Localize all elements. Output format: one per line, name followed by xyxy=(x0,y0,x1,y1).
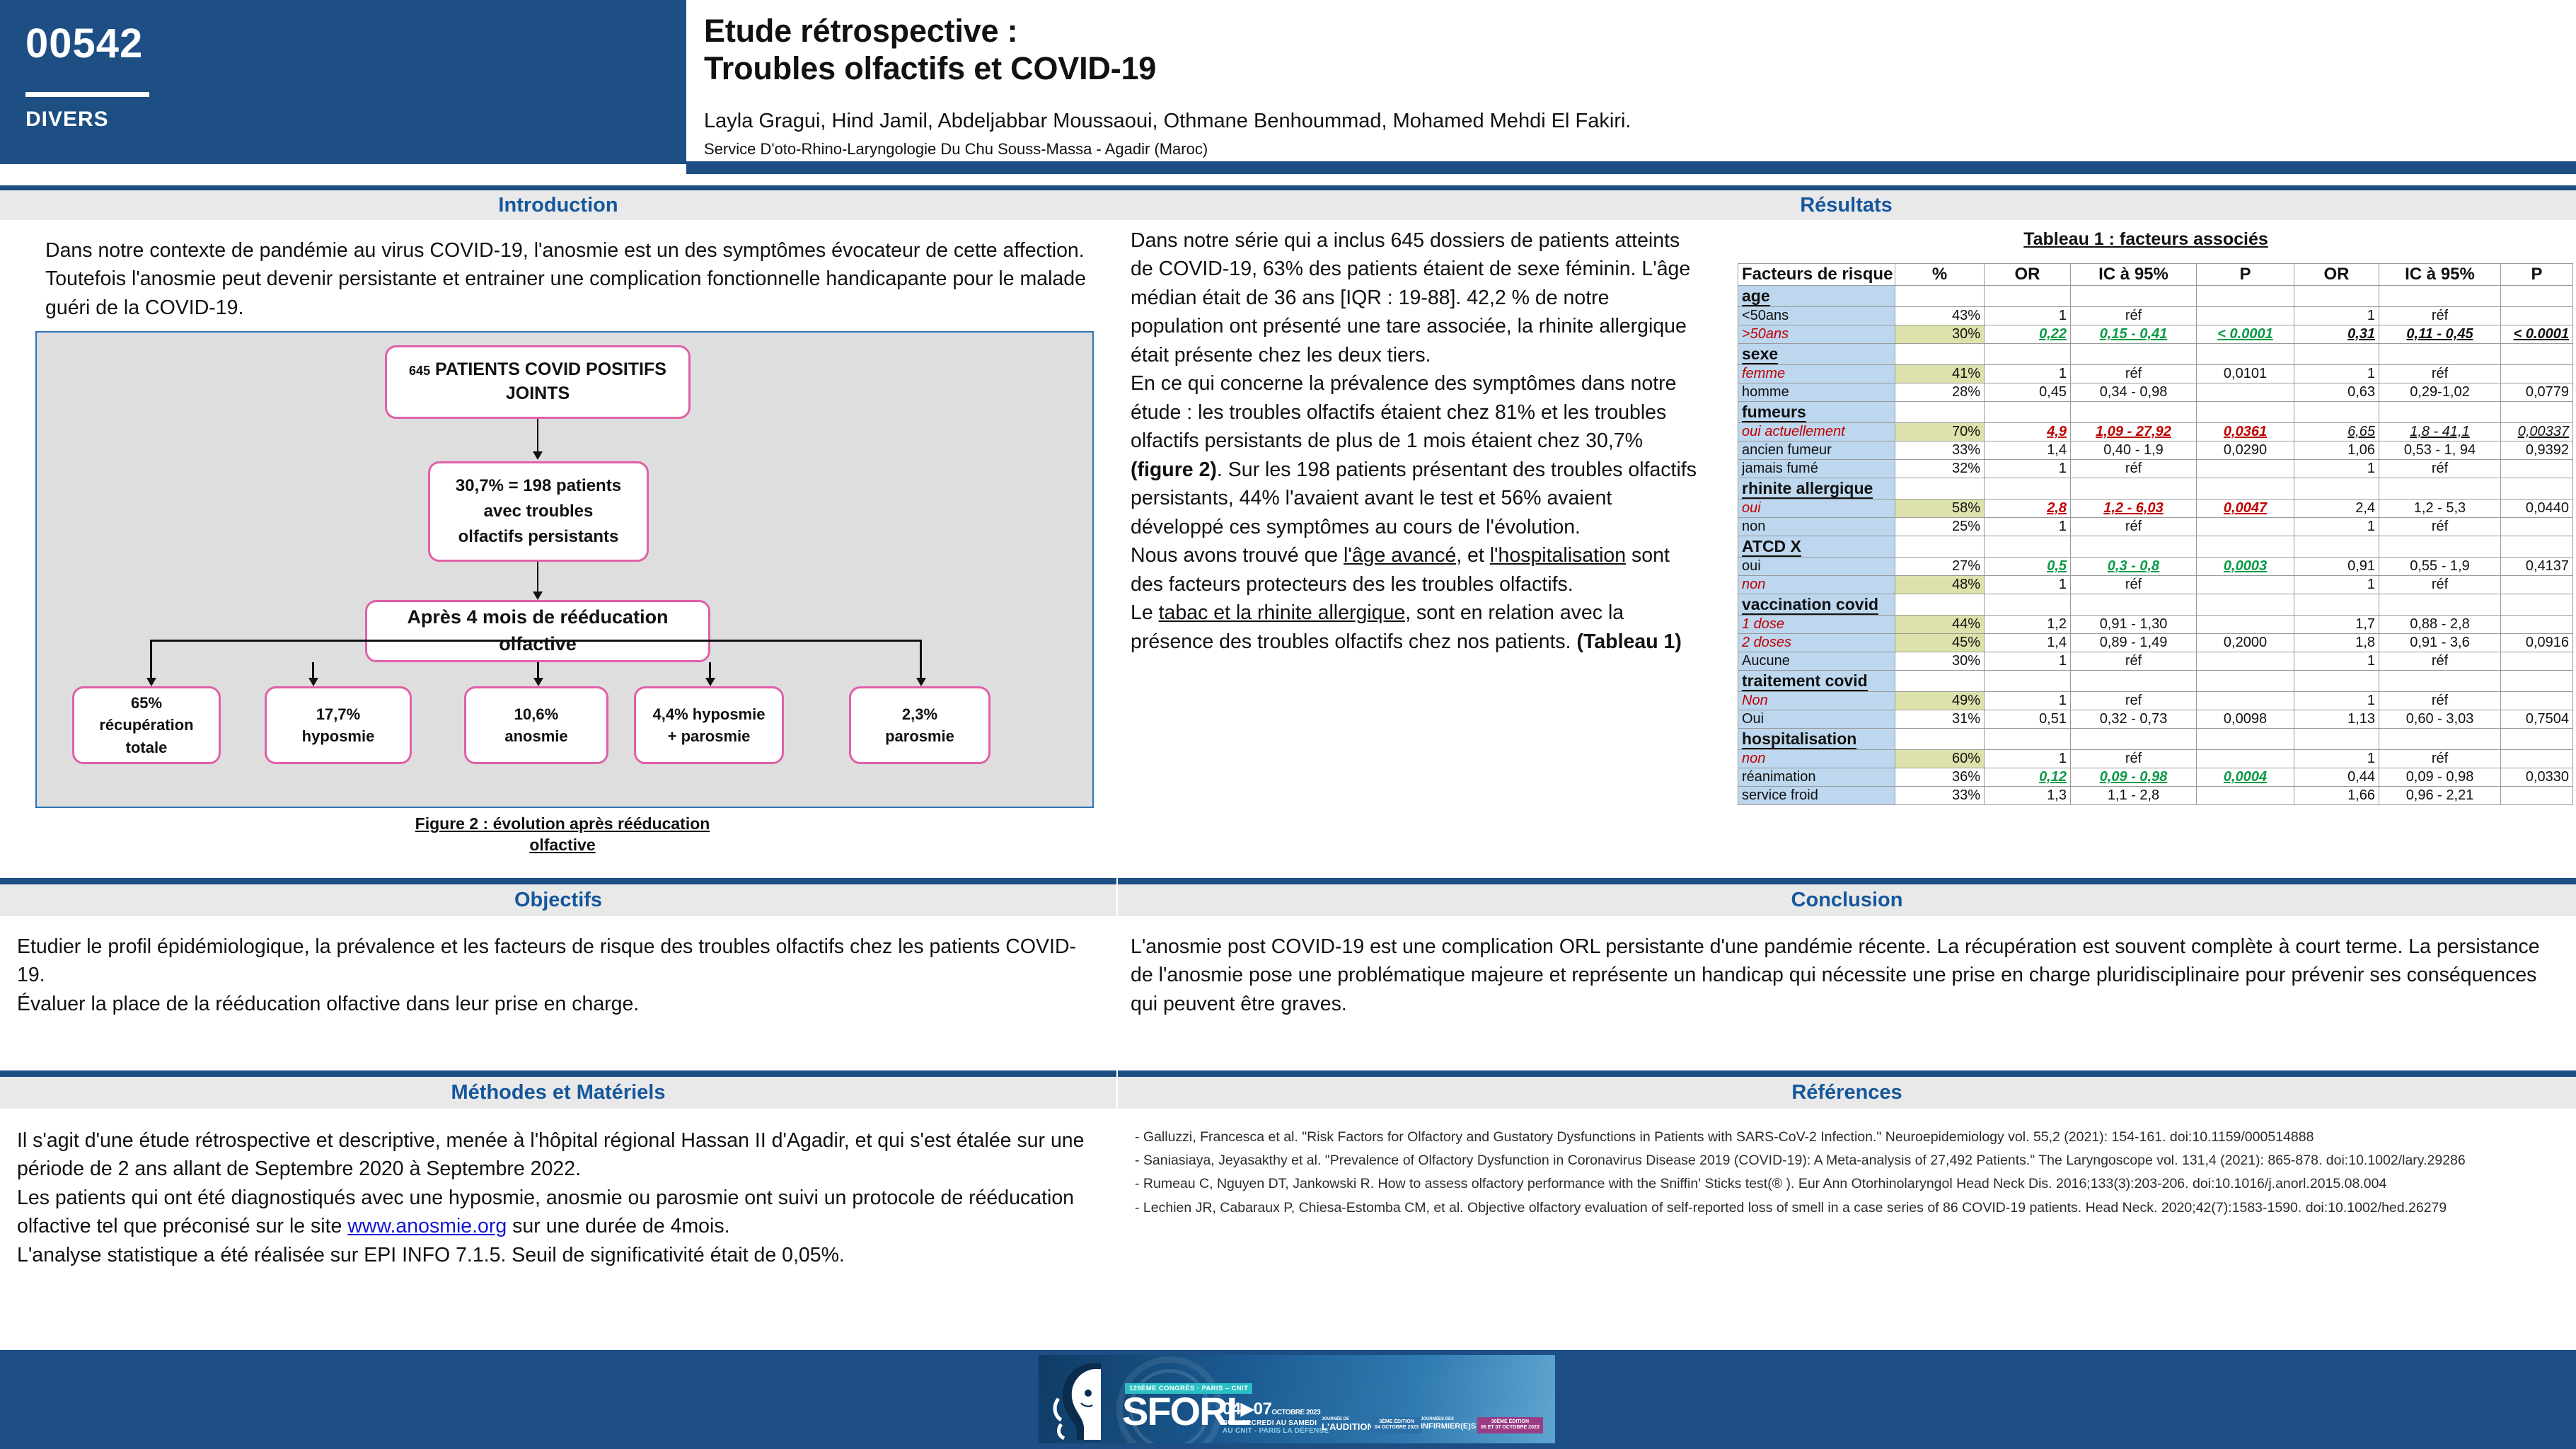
methodes-title: Méthodes et Matériels xyxy=(451,1081,666,1104)
resultats-p3-a: Nous avons trouvé que xyxy=(1131,544,1344,567)
table-cell-or-multi: 1,13 xyxy=(2294,710,2379,729)
table-cell-or-uni: 4,9 xyxy=(1985,423,2071,441)
table-cell xyxy=(2501,344,2573,365)
table-header-row: Facteurs de risque%ORIC à 95%PORIC à 95%… xyxy=(1738,264,2573,286)
table-cell-percent: 43% xyxy=(1895,307,1985,325)
flow-node-persistent: 30,7% = 198 patients avec troubles olfac… xyxy=(428,461,649,562)
table-group-row: vaccination covid xyxy=(1738,594,2573,616)
resultats-p4-tableref: (Tableau 1) xyxy=(1577,630,1682,653)
flow-outcome-1-l2: récupération xyxy=(99,714,193,736)
table-cell-ic-multi: réf xyxy=(2379,692,2501,710)
table-col-4: P xyxy=(2197,264,2294,286)
badge-divider xyxy=(25,92,149,97)
resultats-p4: Le tabac et la rhinite allergique, sont … xyxy=(1131,599,1702,656)
abstract-number: 00542 xyxy=(25,20,143,67)
table-cell-or-multi: 1,66 xyxy=(2294,787,2379,805)
table-cell-ic-uni: 1,1 - 2,8 xyxy=(2071,787,2197,805)
table-cell-percent: 70% xyxy=(1895,423,1985,441)
table-cell xyxy=(2379,344,2501,365)
table-cell-ic-uni: 0,34 - 0,98 xyxy=(2071,383,2197,402)
table-cell-ic-uni: 1,09 - 27,92 xyxy=(2071,423,2197,441)
table-cell-p-uni xyxy=(2197,787,2294,805)
table-cell-or-uni: 1 xyxy=(1985,518,2071,536)
table-group-label: ATCD X xyxy=(1738,536,1895,558)
table-cell xyxy=(2071,286,2197,307)
table-cell-ic-multi: 0,53 - 1, 94 xyxy=(2379,441,2501,460)
table-cell xyxy=(2071,402,2197,423)
table-row: non25%1réf1réf xyxy=(1738,518,2573,536)
table-row-label: service froid xyxy=(1738,787,1895,805)
flow-connector-1 xyxy=(537,419,538,454)
table-row: jamais fumé32%1réf1réf xyxy=(1738,460,2573,478)
table-cell-p-multi xyxy=(2501,365,2573,383)
table-cell-ic-multi: 0,88 - 2,8 xyxy=(2379,616,2501,634)
flow-outcome-1: 65% récupération totale xyxy=(72,686,221,764)
flow-outcome-1-l1: 65% xyxy=(131,692,162,714)
table-cell xyxy=(2197,594,2294,616)
table-cell xyxy=(2071,671,2197,692)
table-cell-p-multi: < 0.0001 xyxy=(2501,325,2573,344)
flow-arrow-o4 xyxy=(705,678,715,686)
table-cell-ic-uni: 0,91 - 1,30 xyxy=(2071,616,2197,634)
table-cell xyxy=(2197,729,2294,750)
table-cell-or-uni: 0,22 xyxy=(1985,325,2071,344)
table-group-label: traitement covid xyxy=(1738,671,1895,692)
table-cell-ic-multi: 0,91 - 3,6 xyxy=(2379,634,2501,652)
congress-dates: 04▶07OCTOBRE 2023 DU MERCREDI AU SAMEDI … xyxy=(1223,1399,1329,1435)
infirmiers-edition-chip: 30ÈME ÉDITION 06 ET 07 OCTOBRE 2023 xyxy=(1477,1417,1543,1433)
table-cell-p-uni: 0,0003 xyxy=(2197,558,2294,576)
table-cell-ic-multi: réf xyxy=(2379,518,2501,536)
table-group-row: traitement covid xyxy=(1738,671,2573,692)
table-cell-or-uni: 1 xyxy=(1985,307,2071,325)
table-cell xyxy=(1985,671,2071,692)
table-cell-p-uni: < 0.0001 xyxy=(2197,325,2294,344)
table-cell-or-uni: 1 xyxy=(1985,460,2071,478)
table-cell-percent: 31% xyxy=(1895,710,1985,729)
resultats-p2: En ce qui concerne la prévalence des sym… xyxy=(1131,369,1702,541)
table-cell-percent: 33% xyxy=(1895,441,1985,460)
table-cell xyxy=(2379,402,2501,423)
table-cell-ic-uni: réf xyxy=(2071,460,2197,478)
flow-node-rehab-l1: Après 4 mois de rééducation xyxy=(407,604,668,631)
table-cell xyxy=(2071,729,2197,750)
table-group-row: ATCD X xyxy=(1738,536,2573,558)
flow-arrow-o5 xyxy=(916,678,926,686)
table-row-label: non xyxy=(1738,518,1895,536)
table-cell-percent: 33% xyxy=(1895,787,1985,805)
table-cell xyxy=(2197,671,2294,692)
table-cell-or-multi: 1,06 xyxy=(2294,441,2379,460)
table-cell-p-multi xyxy=(2501,787,2573,805)
resultats-p4-a: Le xyxy=(1131,601,1159,624)
table-row: non60%1réf1réf xyxy=(1738,750,2573,768)
table-row: oui actuellement70%4,91,09 - 27,920,0361… xyxy=(1738,423,2573,441)
table-cell-or-multi: 6,65 xyxy=(2294,423,2379,441)
table-row-label: non xyxy=(1738,750,1895,768)
table-cell xyxy=(2294,344,2379,365)
table-group-label: fumeurs xyxy=(1738,402,1895,423)
flow-outcome-2-l1: 17,7% xyxy=(316,703,360,725)
table-cell xyxy=(2197,478,2294,500)
table-row-label: jamais fumé xyxy=(1738,460,1895,478)
table-row: >50ans30%0,220,15 - 0,41< 0.00010,310,11… xyxy=(1738,325,2573,344)
resultats-band: Résultats xyxy=(1116,190,2576,220)
table-cell xyxy=(2197,536,2294,558)
table-group-row: rhinite allergique xyxy=(1738,478,2573,500)
table-cell xyxy=(1985,536,2071,558)
table-group-row: sexe xyxy=(1738,344,2573,365)
table-cell-p-multi: 0,7504 xyxy=(2501,710,2573,729)
table-cell xyxy=(2379,286,2501,307)
flow-drop-1 xyxy=(150,640,152,681)
reference-item: - Rumeau C, Nguyen DT, Jankowski R. How … xyxy=(1135,1173,2564,1194)
table-row: non48%1réf1réf xyxy=(1738,576,2573,594)
flow-outcome-5: 2,3% parosmie xyxy=(849,686,990,764)
flow-node-cohort-count: 645 xyxy=(409,364,430,378)
table-cell-or-uni: 0,51 xyxy=(1985,710,2071,729)
table-cell xyxy=(1895,594,1985,616)
flow-arrow-2 xyxy=(533,591,543,600)
table-cell xyxy=(1895,286,1985,307)
table-cell-p-uni xyxy=(2197,460,2294,478)
table-cell-ic-multi: 1,2 - 5,3 xyxy=(2379,500,2501,518)
figure2-container: 645 PATIENTS COVID POSITIFS JOINTS 30,7%… xyxy=(35,331,1094,808)
table-cell-p-multi: 0,0916 xyxy=(2501,634,2573,652)
table-row: réanimation36%0,120,09 - 0,980,00040,440… xyxy=(1738,768,2573,787)
table-cell-or-multi: 0,63 xyxy=(2294,383,2379,402)
table-cell-percent: 41% xyxy=(1895,365,1985,383)
table-cell-ic-multi: 0,96 - 2,21 xyxy=(2379,787,2501,805)
table-row-label: réanimation xyxy=(1738,768,1895,787)
table-group-label: rhinite allergique xyxy=(1738,478,1895,500)
table-row-label: Oui xyxy=(1738,710,1895,729)
table-row-label: >50ans xyxy=(1738,325,1895,344)
table-cell-or-multi: 0,91 xyxy=(2294,558,2379,576)
table-row: 1 dose44%1,20,91 - 1,301,70,88 - 2,8 xyxy=(1738,616,2573,634)
table-cell-ic-uni: 0,09 - 0,98 xyxy=(2071,768,2197,787)
table-cell-percent: 36% xyxy=(1895,768,1985,787)
table-col-0: Facteurs de risque xyxy=(1738,264,1895,286)
table-cell xyxy=(2197,402,2294,423)
table-cell-or-uni: 1,3 xyxy=(1985,787,2071,805)
flow-arrow-o2 xyxy=(308,678,318,686)
table-row-label: oui actuellement xyxy=(1738,423,1895,441)
table-cell-p-multi: 0,0440 xyxy=(2501,500,2573,518)
methodes-band-rule xyxy=(0,1070,1116,1077)
date-days: DU MERCREDI AU SAMEDI xyxy=(1223,1419,1329,1427)
resultats-p3-u1: l'âge avancé xyxy=(1344,544,1456,567)
resultats-p1: Dans notre série qui a inclus 645 dossie… xyxy=(1131,226,1702,369)
table-row-label: <50ans xyxy=(1738,307,1895,325)
flow-arrow-1 xyxy=(533,451,543,460)
table-cell-or-multi: 1 xyxy=(2294,460,2379,478)
abstract-category: DIVERS xyxy=(25,108,109,132)
conclusion-band: Conclusion xyxy=(1118,884,2576,916)
resultats-p4-u1: tabac et la rhinite allergique, xyxy=(1159,601,1411,624)
table-cell xyxy=(1985,286,2071,307)
table-row-label: oui xyxy=(1738,500,1895,518)
table-row-label: oui xyxy=(1738,558,1895,576)
table-cell xyxy=(1895,402,1985,423)
flow-outcome-3: 10,6% anosmie xyxy=(464,686,608,764)
table-cell-p-uni: 0,0361 xyxy=(2197,423,2294,441)
table-cell-or-uni: 1 xyxy=(1985,750,2071,768)
table-cell-or-uni: 1 xyxy=(1985,365,2071,383)
table-row-label: non xyxy=(1738,576,1895,594)
table-cell-or-uni: 1 xyxy=(1985,692,2071,710)
table-cell-or-multi: 1,8 xyxy=(2294,634,2379,652)
table-cell-percent: 45% xyxy=(1895,634,1985,652)
flow-connector-2 xyxy=(537,562,538,594)
table-row: Non49%1ref1réf xyxy=(1738,692,2573,710)
table-cell-p-multi xyxy=(2501,692,2573,710)
objectifs-band-rule xyxy=(0,878,1116,884)
table-cell-p-uni: 0,0101 xyxy=(2197,365,2294,383)
audition-title: L'AUDITION xyxy=(1322,1422,1374,1433)
conclusion-title: Conclusion xyxy=(1791,889,1903,912)
table-cell-ic-uni: 0,40 - 1,9 xyxy=(2071,441,2197,460)
table-cell-p-uni xyxy=(2197,616,2294,634)
table-row: homme28%0,450,34 - 0,980,630,29-1,020,07… xyxy=(1738,383,2573,402)
table-cell-p-uni xyxy=(2197,750,2294,768)
conclusion-text: L'anosmie post COVID-19 est une complica… xyxy=(1131,933,2560,1018)
objectifs-title: Objectifs xyxy=(514,889,602,912)
table-cell xyxy=(2379,729,2501,750)
flow-outcome-4-l1: 4,4% hyposmie xyxy=(653,703,766,725)
table-cell-percent: 27% xyxy=(1895,558,1985,576)
methodes-p2-b: sur une durée de 4mois. xyxy=(507,1215,729,1237)
table-cell xyxy=(2071,536,2197,558)
table-cell-p-multi xyxy=(2501,518,2573,536)
audition-block: JOURNÉE DE L'AUDITION xyxy=(1322,1417,1374,1433)
flow-node-rehab-l2: olfactive xyxy=(499,631,577,658)
table-cell xyxy=(2379,536,2501,558)
reference-item: - Galluzzi, Francesca et al. "Risk Facto… xyxy=(1135,1126,2564,1148)
flow-outcome-5-l1: 2,3% xyxy=(902,703,937,725)
table-cell xyxy=(2379,671,2501,692)
table-cell-ic-uni: réf xyxy=(2071,750,2197,768)
references-title: Références xyxy=(1791,1081,1902,1104)
table-cell-or-multi: 0,31 xyxy=(2294,325,2379,344)
introduction-band-rule xyxy=(0,185,1116,190)
figure2-caption: Figure 2 : évolution après rééducation o… xyxy=(297,814,828,856)
table-cell-p-uni: 0,0004 xyxy=(2197,768,2294,787)
methodes-band: Méthodes et Matériels xyxy=(0,1077,1116,1109)
flow-arrow-o3 xyxy=(533,678,543,686)
table-group-row: age xyxy=(1738,286,2573,307)
resultats-title: Résultats xyxy=(1800,194,1893,217)
table-cell-ic-uni: réf xyxy=(2071,518,2197,536)
table-cell-ic-multi: 1,8 - 41,1 xyxy=(2379,423,2501,441)
table-cell xyxy=(2501,402,2573,423)
table-cell-or-multi: 1 xyxy=(2294,307,2379,325)
table-cell-or-multi: 1 xyxy=(2294,518,2379,536)
affiliation: Service D'oto-Rhino-Laryngologie Du Chu … xyxy=(704,140,2558,158)
table-cell xyxy=(1985,729,2071,750)
resultats-p3-u2: l'hospitalisation xyxy=(1490,544,1626,567)
title-line-1: Etude rétrospective : xyxy=(704,13,2543,50)
table-cell-ic-multi: 0,29-1,02 xyxy=(2379,383,2501,402)
table-cell-or-uni: 1,4 xyxy=(1985,441,2071,460)
infirmiers-block: JOURNÉES DES INFIRMIER(E)S xyxy=(1421,1417,1476,1431)
objectifs-band: Objectifs xyxy=(0,884,1116,916)
table-row-label: femme xyxy=(1738,365,1895,383)
objectifs-item-1: Etudier le profil épidémiologique, la pr… xyxy=(17,933,1092,990)
date-venue: AU CNIT - PARIS LA DÉFENSE xyxy=(1223,1427,1329,1435)
table-cell-percent: 49% xyxy=(1895,692,1985,710)
table-col-5: OR xyxy=(2294,264,2379,286)
table-cell-p-multi xyxy=(2501,616,2573,634)
table-cell xyxy=(2501,594,2573,616)
table-col-3: IC à 95% xyxy=(2071,264,2197,286)
table-cell-or-uni: 1 xyxy=(1985,652,2071,671)
table-group-label: age xyxy=(1738,286,1895,307)
table-cell xyxy=(2294,402,2379,423)
table-cell-or-uni: 0,12 xyxy=(1985,768,2071,787)
table-cell-or-multi: 1 xyxy=(2294,692,2379,710)
table-cell-or-multi: 1 xyxy=(2294,365,2379,383)
table-cell-percent: 44% xyxy=(1895,616,1985,634)
table-cell-ic-uni: réf xyxy=(2071,365,2197,383)
table-cell-ic-multi: 0,60 - 3,03 xyxy=(2379,710,2501,729)
introduction-text: Dans notre contexte de pandémie au virus… xyxy=(45,236,1107,322)
audition-edition: 3ÈME ÉDITION xyxy=(1375,1419,1419,1425)
table-cell-ic-multi: réf xyxy=(2379,460,2501,478)
table-cell xyxy=(2071,478,2197,500)
flow-node-persistent-l3: olfactifs persistants xyxy=(458,524,619,550)
table-cell-p-uni xyxy=(2197,576,2294,594)
table-cell-or-multi: 1 xyxy=(2294,750,2379,768)
methodes-p1: Il s'agit d'une étude rétrospective et d… xyxy=(17,1126,1099,1184)
resultats-text: Dans notre série qui a inclus 645 dossie… xyxy=(1131,226,1702,656)
table-cell-ic-multi: réf xyxy=(2379,307,2501,325)
flow-outcome-5-l2: parosmie xyxy=(885,725,954,747)
table-cell-p-uni xyxy=(2197,307,2294,325)
table-cell-ic-multi: 0,55 - 1,9 xyxy=(2379,558,2501,576)
table-cell xyxy=(1895,478,1985,500)
table-cell-ic-multi: réf xyxy=(2379,652,2501,671)
table-cell-or-multi: 1,7 xyxy=(2294,616,2379,634)
table-caption: Tableau 1 : facteurs associés xyxy=(1725,229,2567,250)
table-cell xyxy=(2294,671,2379,692)
table-cell-ic-multi: réf xyxy=(2379,576,2501,594)
table-cell xyxy=(2197,286,2294,307)
table-row-label: homme xyxy=(1738,383,1895,402)
table-cell-percent: 60% xyxy=(1895,750,1985,768)
flow-outcome-4: 4,4% hyposmie + parosmie xyxy=(634,686,784,764)
table-cell-p-uni: 0,0098 xyxy=(2197,710,2294,729)
table-cell-ic-uni: 1,2 - 6,03 xyxy=(2071,500,2197,518)
table-cell-p-uni xyxy=(2197,518,2294,536)
table-cell xyxy=(1895,536,1985,558)
table-cell xyxy=(2071,594,2197,616)
table-cell-ic-uni: 0,32 - 0,73 xyxy=(2071,710,2197,729)
flow-arrow-o1 xyxy=(146,678,156,686)
author-list: Layla Gragui, Hind Jamil, Abdeljabbar Mo… xyxy=(704,110,2558,133)
table-group-row: hospitalisation xyxy=(1738,729,2573,750)
table-cell xyxy=(2294,729,2379,750)
table-row: Oui31%0,510,32 - 0,730,00981,130,60 - 3,… xyxy=(1738,710,2573,729)
references-list: - Galluzzi, Francesca et al. "Risk Facto… xyxy=(1135,1126,2564,1220)
flow-outcome-4-l2: + parosmie xyxy=(668,725,751,747)
objectifs-text: Etudier le profil épidémiologique, la pr… xyxy=(17,933,1092,1018)
table-cell-or-multi: 2,4 xyxy=(2294,500,2379,518)
table-cell-or-uni: 0,5 xyxy=(1985,558,2071,576)
page-title: Etude rétrospective : Troubles olfactifs… xyxy=(704,13,2543,87)
table-cell xyxy=(2294,594,2379,616)
table-cell xyxy=(1985,344,2071,365)
introduction-title: Introduction xyxy=(498,194,618,217)
methodes-p3: L'analyse statistique a été réalisée sur… xyxy=(17,1241,1099,1269)
table-cell-or-multi: 1 xyxy=(2294,576,2379,594)
table-group-row: fumeurs xyxy=(1738,402,2573,423)
table-cell-ic-uni: ref xyxy=(2071,692,2197,710)
table-col-1: % xyxy=(1895,264,1985,286)
table-cell-p-uni: 0,0290 xyxy=(2197,441,2294,460)
figure2-caption-l1: Figure 2 : évolution après rééducation xyxy=(297,814,828,835)
table-group-label: vaccination covid xyxy=(1738,594,1895,616)
table-cell-percent: 25% xyxy=(1895,518,1985,536)
references-band: Références xyxy=(1118,1077,2576,1109)
table-cell xyxy=(2379,478,2501,500)
resultats-p2-a: En ce qui concerne la prévalence des sym… xyxy=(1131,372,1677,452)
table-row: oui58%2,81,2 - 6,030,00472,41,2 - 5,30,0… xyxy=(1738,500,2573,518)
table-cell-or-multi: 1 xyxy=(2294,652,2379,671)
table-cell xyxy=(2501,286,2573,307)
table-cell-or-uni: 1 xyxy=(1985,576,2071,594)
table-cell-p-multi: 0,0779 xyxy=(2501,383,2573,402)
reference-item: - Saniasiaya, Jeyasakthy et al. "Prevale… xyxy=(1135,1150,2564,1171)
table-cell-or-uni: 1,4 xyxy=(1985,634,2071,652)
table-cell-p-multi: 0,00337 xyxy=(2501,423,2573,441)
table-cell-p-uni xyxy=(2197,652,2294,671)
table-cell-percent: 30% xyxy=(1895,325,1985,344)
table-cell-ic-multi: réf xyxy=(2379,750,2501,768)
table-cell-percent: 32% xyxy=(1895,460,1985,478)
table-cell-or-uni: 2,8 xyxy=(1985,500,2071,518)
audition-date: 04 OCTOBRE 2023 xyxy=(1375,1425,1419,1431)
table-cell-percent: 30% xyxy=(1895,652,1985,671)
risk-factors-table: Facteurs de risque%ORIC à 95%PORIC à 95%… xyxy=(1738,263,2573,805)
table-cell xyxy=(2071,344,2197,365)
table-cell xyxy=(1985,402,2071,423)
flow-bus-line xyxy=(150,640,921,642)
table-cell-p-multi xyxy=(2501,460,2573,478)
resultats-p3: Nous avons trouvé que l'âge avancé, et l… xyxy=(1131,541,1702,599)
table-cell xyxy=(1985,478,2071,500)
table-row: 2 doses45%1,40,89 - 1,490,20001,80,91 - … xyxy=(1738,634,2573,652)
table-cell-or-uni: 0,45 xyxy=(1985,383,2071,402)
audition-edition-chip: 3ÈME ÉDITION 04 OCTOBRE 2023 xyxy=(1371,1417,1422,1433)
flow-node-cohort: 645 PATIENTS COVID POSITIFS JOINTS xyxy=(385,345,691,419)
flow-node-persistent-l2: avec troubles xyxy=(484,499,594,524)
table-col-7: P xyxy=(2501,264,2573,286)
flow-drop-5 xyxy=(920,640,922,681)
resultats-p2-figref: (figure 2) xyxy=(1131,458,1217,481)
table-row: ancien fumeur33%1,40,40 - 1,90,02901,060… xyxy=(1738,441,2573,460)
table-row: service froid33%1,31,1 - 2,81,660,96 - 2… xyxy=(1738,787,2573,805)
anosmie-link[interactable]: www.anosmie.org xyxy=(347,1215,507,1237)
abstract-badge: 00542 DIVERS xyxy=(0,0,686,164)
table-cell xyxy=(2379,594,2501,616)
table-cell xyxy=(2501,729,2573,750)
table-cell-p-multi xyxy=(2501,307,2573,325)
table-cell-or-uni: 1,2 xyxy=(1985,616,2071,634)
table-cell-or-multi: 0,44 xyxy=(2294,768,2379,787)
flow-node-cohort-label: PATIENTS COVID POSITIFS JOINTS xyxy=(435,359,666,403)
flow-node-persistent-l1: 30,7% = 198 patients xyxy=(456,473,621,499)
